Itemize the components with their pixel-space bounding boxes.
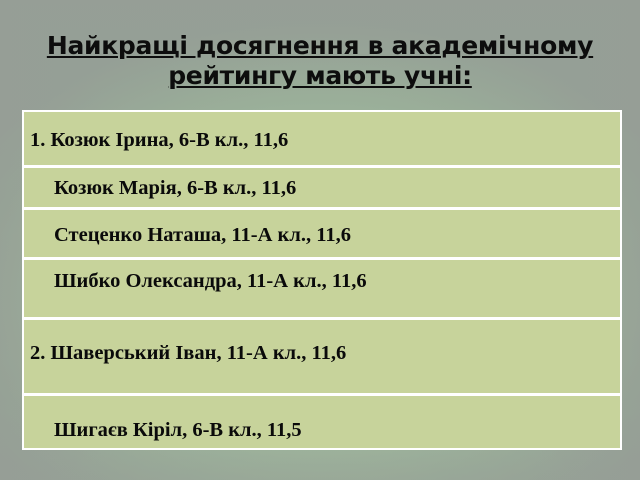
- table-row: Козюк Марія, 6-В кл., 11,6: [24, 168, 620, 210]
- presentation-slide: Найкращі досягнення в академічному рейти…: [0, 0, 640, 480]
- table-row: 2. Шаверський Іван, 11-А кл., 11,6: [24, 320, 620, 396]
- table-row: Стеценко Наташа, 11-А кл., 11,6: [24, 210, 620, 260]
- ranking-table: 1. Козюк Ірина, 6-В кл., 11,6 Козюк Марі…: [22, 110, 622, 450]
- table-row-text: Шигаєв Кіріл, 6-В кл., 11,5: [24, 396, 302, 442]
- slide-title: Найкращі досягнення в академічному рейти…: [0, 31, 640, 91]
- table-row: 1. Козюк Ірина, 6-В кл., 11,6: [24, 112, 620, 168]
- slide-title-line-2: рейтингу мають учні:: [0, 61, 640, 91]
- slide-title-line-1: Найкращі досягнення в академічному: [0, 31, 640, 61]
- table-row-text: Козюк Марія, 6-В кл., 11,6: [24, 168, 296, 200]
- table-row: Шигаєв Кіріл, 6-В кл., 11,5: [24, 396, 620, 448]
- table-row-text: 1. Козюк Ірина, 6-В кл., 11,6: [24, 112, 288, 152]
- table-row: Шибко Олександра, 11-А кл., 11,6: [24, 260, 620, 320]
- slide-title-line-2-text: рейтингу мають учні:: [168, 61, 472, 90]
- table-row-text: 2. Шаверський Іван, 11-А кл., 11,6: [24, 320, 346, 365]
- table-row-text: Шибко Олександра, 11-А кл., 11,6: [24, 260, 367, 293]
- slide-title-line-1-text: Найкращі досягнення в академічному: [47, 31, 593, 60]
- table-row-text: Стеценко Наташа, 11-А кл., 11,6: [24, 210, 351, 247]
